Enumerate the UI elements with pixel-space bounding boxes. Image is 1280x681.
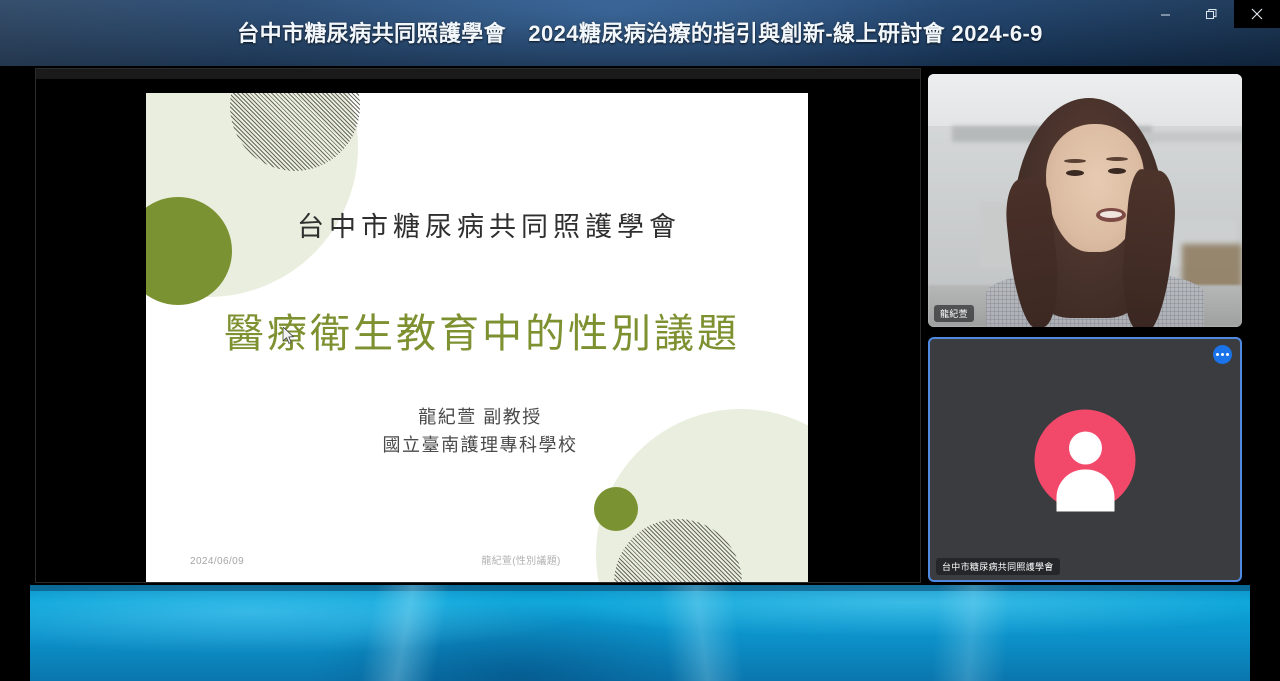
- slide-text-content: 台中市糖尿病共同照護學會 醫療衛生教育中的性別議題 龍紀萱 副教授 國立臺南護理…: [146, 93, 808, 583]
- presentation-slide: 台中市糖尿病共同照護學會 醫療衛生教育中的性別議題 龍紀萱 副教授 國立臺南護理…: [146, 93, 808, 583]
- video-tile-name-label: 台中市糖尿病共同照護學會: [936, 558, 1060, 575]
- more-options-button[interactable]: [1213, 345, 1232, 364]
- close-icon: [1251, 8, 1263, 20]
- restore-button[interactable]: [1188, 0, 1234, 28]
- avatar-body-shape: [1056, 469, 1114, 511]
- more-options-dot-3: [1226, 353, 1229, 356]
- avatar-head-shape: [1069, 431, 1102, 464]
- slide-title: 醫療衛生教育中的性別議題: [146, 301, 808, 359]
- shared-screen-area[interactable]: 台中市糖尿病共同照護學會 醫療衛生教育中的性別議題 龍紀萱 副教授 國立臺南護理…: [35, 68, 921, 583]
- more-options-dot-1: [1216, 353, 1219, 356]
- slide-organization: 台中市糖尿病共同照護學會: [146, 205, 808, 244]
- camera-background-shelf-secondary: [1140, 132, 1242, 142]
- background-wave-graphic: [30, 585, 1250, 681]
- meeting-window: 台中市糖尿病共同照護學會 2024糖尿病治療的指引與創新-線上研討會 2024-…: [0, 0, 1280, 681]
- slide-speaker: 龍紀萱 副教授: [146, 403, 808, 429]
- video-tile-avatar[interactable]: 台中市糖尿病共同照護學會: [928, 337, 1242, 582]
- minimize-icon: [1160, 9, 1171, 20]
- avatar: [1035, 409, 1136, 510]
- shared-screen-letterbox: 台中市糖尿病共同照護學會 醫療衛生教育中的性別議題 龍紀萱 副教授 國立臺南護理…: [36, 79, 920, 583]
- restore-icon: [1206, 9, 1217, 20]
- slide-affiliation: 國立臺南護理專科學校: [146, 431, 808, 457]
- window-controls: [1142, 0, 1280, 28]
- minimize-button[interactable]: [1142, 0, 1188, 28]
- participant-teeth: [1100, 211, 1122, 218]
- video-tile-camera[interactable]: 龍紀萱: [928, 74, 1242, 327]
- participant-eye-right: [1108, 168, 1126, 174]
- window-title: 台中市糖尿病共同照護學會 2024糖尿病治療的指引與創新-線上研討會 2024-…: [0, 16, 1280, 48]
- video-tile-name-label: 龍紀萱: [934, 305, 974, 322]
- more-options-dot-2: [1221, 353, 1224, 356]
- background-wave-top-strip: [30, 585, 1250, 591]
- participant-eye-left: [1066, 170, 1084, 176]
- slide-footer-note: 龍紀萱(性別議題): [146, 552, 808, 567]
- participant-eyebrow-right: [1106, 157, 1128, 161]
- window-titlebar: 台中市糖尿病共同照護學會 2024糖尿病治療的指引與創新-線上研討會 2024-…: [0, 0, 1280, 66]
- participant-eyebrow-left: [1064, 159, 1086, 163]
- close-button[interactable]: [1234, 0, 1280, 28]
